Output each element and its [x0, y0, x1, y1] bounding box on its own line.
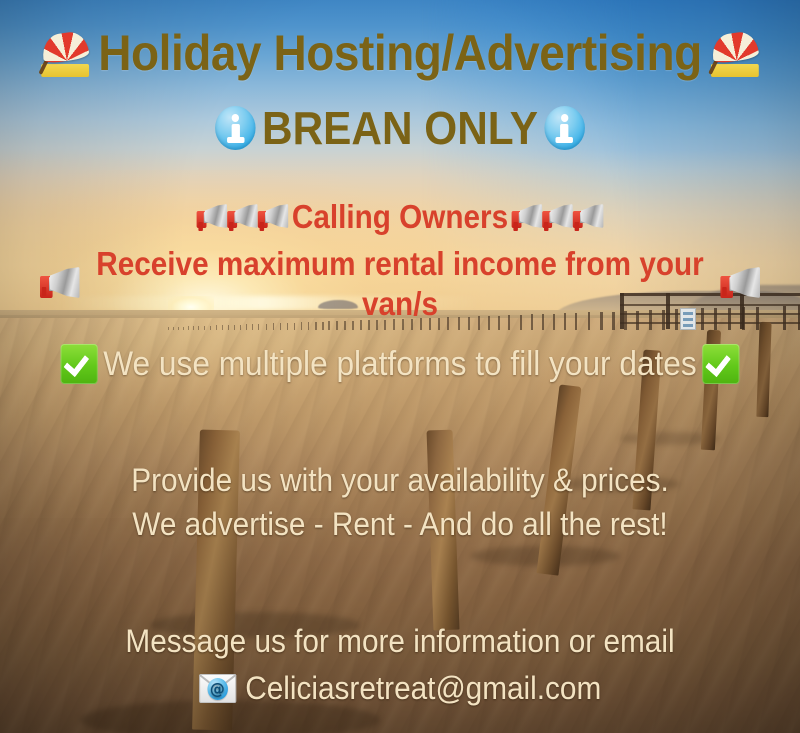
- platforms-row: We use multiple platforms to fill your d…: [28, 342, 772, 386]
- information-icon: [215, 106, 255, 150]
- beach-umbrella-icon: [38, 23, 93, 83]
- email-envelope-icon: @: [199, 674, 236, 703]
- receive-income-row: Receive maximum rental income from your …: [40, 244, 760, 324]
- megaphone-icon: [542, 202, 573, 232]
- receive-income-text: Receive maximum rental income from your …: [85, 244, 715, 324]
- body-text-block: Provide us with your availability & pric…: [28, 458, 772, 546]
- contact-block: Message us for more information or email…: [28, 618, 772, 712]
- check-mark-button-icon: [702, 344, 739, 384]
- calling-owners-text: Calling Owners: [288, 197, 511, 237]
- megaphone-icon: [258, 202, 289, 232]
- body-line-1: Provide us with your availability & pric…: [28, 458, 772, 502]
- title-row: Holiday Hosting/Advertising: [32, 23, 768, 83]
- promotional-poster: Holiday Hosting/Advertising BREAN ONLY: [0, 0, 800, 733]
- megaphone-icon: [720, 265, 760, 303]
- check-mark-button-icon: [61, 344, 98, 384]
- megaphone-icon: [197, 202, 228, 232]
- megaphone-icon: [227, 202, 258, 232]
- calling-owners-row: Calling Owners: [40, 197, 760, 237]
- poster-content: Holiday Hosting/Advertising BREAN ONLY: [0, 0, 800, 733]
- at-symbol-icon: @: [207, 678, 227, 700]
- megaphone-icon: [573, 202, 604, 232]
- body-line-2: We advertise - Rent - And do all the res…: [28, 502, 772, 546]
- information-icon: [544, 106, 584, 150]
- contact-text: Message us for more information or email: [28, 618, 772, 665]
- megaphone-icon: [512, 202, 543, 232]
- subtitle-text: BREAN ONLY: [262, 101, 538, 155]
- beach-umbrella-icon: [707, 23, 762, 83]
- page-title: Holiday Hosting/Advertising: [98, 24, 702, 82]
- email-row: @ Celiciasretreat@gmail.com: [28, 665, 772, 712]
- subtitle-row: BREAN ONLY: [32, 101, 768, 155]
- platforms-text: We use multiple platforms to fill your d…: [103, 342, 696, 386]
- email-address[interactable]: Celiciasretreat@gmail.com: [245, 665, 601, 712]
- megaphone-icon: [40, 265, 80, 303]
